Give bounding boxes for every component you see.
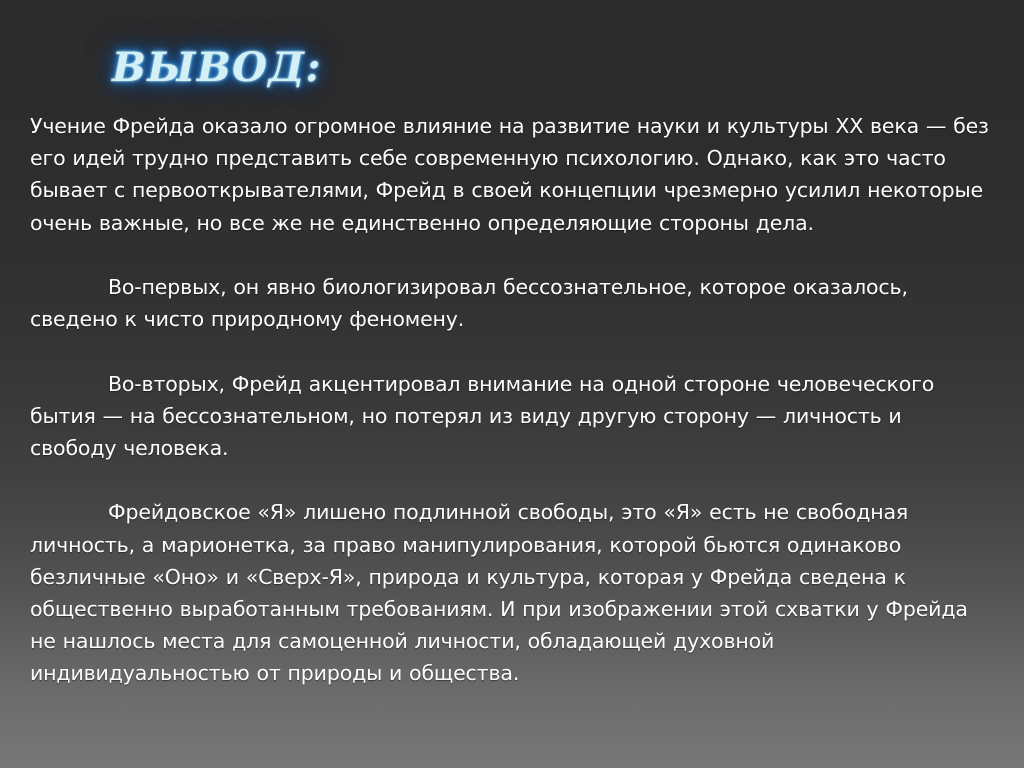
paragraph-1: Учение Фрейда оказало огромное влияние н…	[30, 110, 992, 239]
paragraph-4: Фрейдовское «Я» лишено подлинной свободы…	[30, 496, 992, 689]
slide-body-text: Учение Фрейда оказало огромное влияние н…	[30, 110, 992, 690]
paragraph-3: Во-вторых, Фрейд акцентировал внимание н…	[30, 368, 992, 465]
slide-title: ВЫВОД:	[112, 44, 322, 92]
presentation-slide: ВЫВОД: Учение Фрейда оказало огромное вл…	[0, 0, 1024, 768]
paragraph-2: Во-первых, он явно биологизировал бессоз…	[30, 271, 992, 335]
